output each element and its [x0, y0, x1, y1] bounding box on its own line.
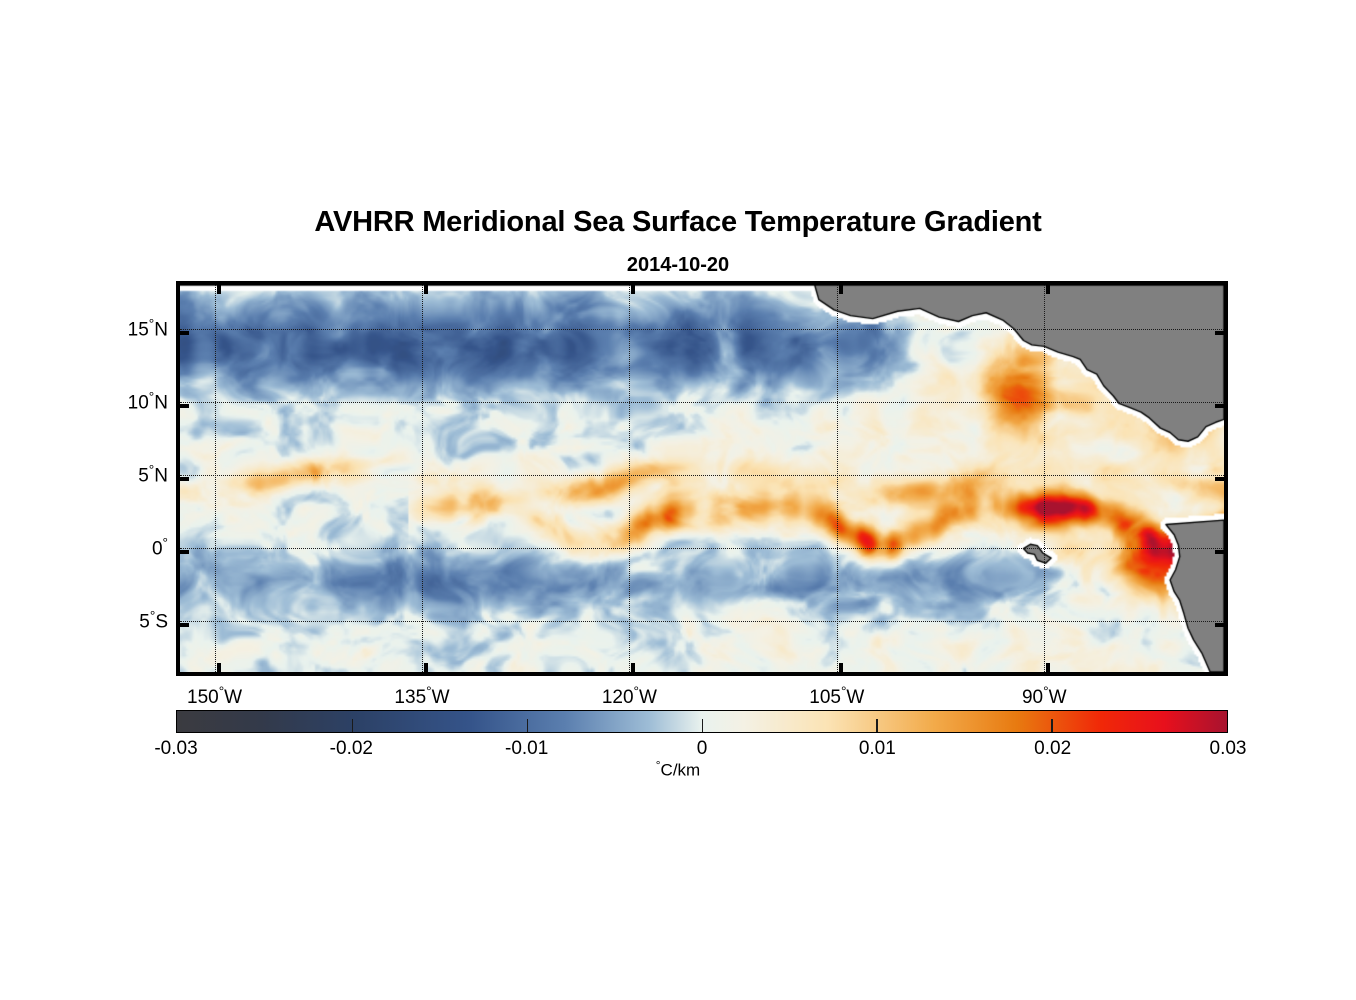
colorbar-label-5: 0.02 — [1034, 738, 1071, 760]
colorbar-tick — [1051, 719, 1053, 732]
land-mask-overlay — [180, 285, 1224, 672]
y-axis-tick — [1215, 550, 1224, 554]
x-axis-tick — [1046, 285, 1050, 294]
y-axis-tick — [1215, 404, 1224, 408]
figure-canvas: AVHRR Meridional Sea Surface Temperature… — [0, 0, 1356, 1000]
x-axis-label-135W: 135°W — [394, 684, 449, 709]
x-axis-label-150W: 150°W — [187, 684, 242, 709]
x-axis-tick — [217, 663, 221, 672]
x-axis-tick — [631, 663, 635, 672]
y-axis-tick — [180, 404, 189, 408]
y-axis-label-5S: 5°S — [139, 608, 168, 633]
y-axis-tick — [180, 331, 189, 335]
x-axis-tick — [424, 285, 428, 294]
x-axis-tick — [631, 285, 635, 294]
colorbar-units-label: °C/km — [0, 758, 1356, 781]
x-axis-tick — [1046, 663, 1050, 672]
x-axis-label-105W: 105°W — [809, 684, 864, 709]
colorbar-label-2: -0.01 — [505, 738, 548, 760]
y-axis-tick — [1215, 331, 1224, 335]
colorbar-label-0: -0.03 — [154, 738, 197, 760]
colorbar-tick — [876, 719, 878, 732]
colorbar-label-4: 0.01 — [859, 738, 896, 760]
page-title: AVHRR Meridional Sea Surface Temperature… — [0, 206, 1356, 239]
x-axis-tick — [424, 663, 428, 672]
y-axis-tick — [180, 623, 189, 627]
y-axis-label-10N: 10°N — [128, 389, 168, 414]
chart-subtitle-date: 2014-10-20 — [0, 254, 1356, 277]
x-axis-tick — [839, 285, 843, 294]
colorbar-units-text: C/km — [661, 761, 701, 780]
colorbar[interactable] — [176, 710, 1228, 733]
y-axis-tick — [1215, 623, 1224, 627]
colorbar-tick — [527, 719, 529, 732]
x-axis-label-120W: 120°W — [602, 684, 657, 709]
colorbar-tick — [352, 719, 354, 732]
colorbar-label-3: 0 — [697, 738, 708, 760]
y-axis-tick — [1215, 477, 1224, 481]
y-axis-tick — [180, 550, 189, 554]
y-axis-tick — [180, 477, 189, 481]
x-axis-label-90W: 90°W — [1022, 684, 1067, 709]
x-axis-tick — [839, 663, 843, 672]
y-axis-label-5N: 5°N — [138, 462, 168, 487]
map-plot-area — [180, 285, 1224, 672]
colorbar-label-6: 0.03 — [1210, 738, 1247, 760]
colorbar-label-1: -0.02 — [330, 738, 373, 760]
y-axis-label-0: 0° — [152, 535, 168, 560]
x-axis-tick — [217, 285, 221, 294]
y-axis-label-15N: 15°N — [128, 316, 168, 341]
colorbar-tick — [702, 719, 704, 732]
map-axes[interactable] — [176, 281, 1228, 676]
